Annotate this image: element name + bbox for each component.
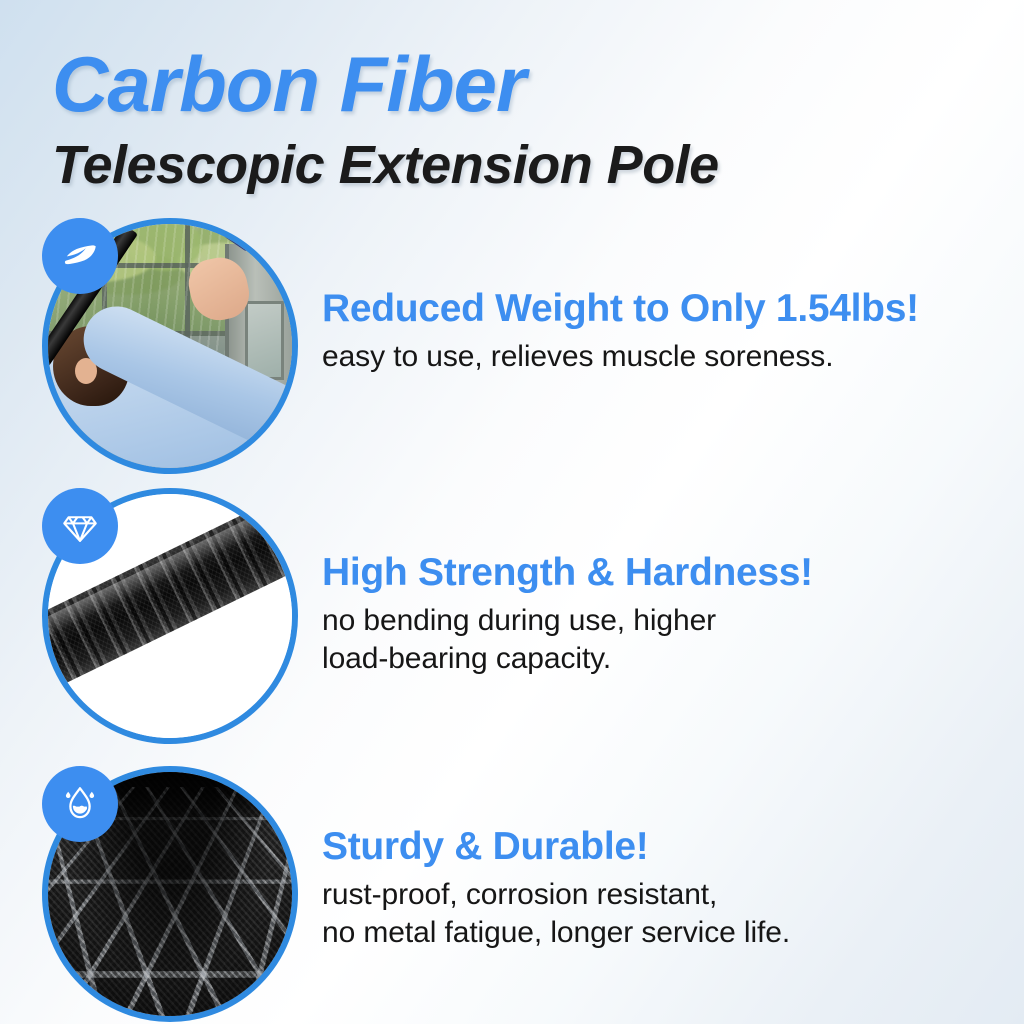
product-infographic-poster: Carbon Fiber Telescopic Extension Pole bbox=[0, 0, 1024, 1024]
feature-media-3 bbox=[42, 766, 298, 1022]
feature-heading-1-line1: Reduced Weight to bbox=[322, 287, 669, 330]
feature-copy-1: Reduced Weight to Only 1.54lbs! easy to … bbox=[322, 218, 1012, 376]
feature-heading-2-line1: High Strength & Hardness! bbox=[322, 551, 813, 594]
poster-header: Carbon Fiber Telescopic Extension Pole bbox=[0, 44, 1024, 194]
feature-body-1: easy to use, relieves muscle soreness. bbox=[322, 338, 1012, 376]
diamond-icon bbox=[59, 505, 101, 547]
feature-badge-3 bbox=[42, 766, 118, 842]
feature-heading-1: Reduced Weight to Only 1.54lbs! bbox=[322, 286, 1012, 331]
feather-icon bbox=[59, 235, 101, 277]
feature-body-2-line2: load-bearing capacity. bbox=[322, 640, 1012, 678]
feature-body-2-line1: no bending during use, higher bbox=[322, 602, 1012, 640]
feature-copy-3: Sturdy & Durable! rust-proof, corrosion … bbox=[322, 766, 1012, 952]
feature-body-2: no bending during use, higher load-beari… bbox=[322, 602, 1012, 678]
feature-body-3-line2: no metal fatigue, longer service life. bbox=[322, 914, 1012, 952]
feature-badge-2 bbox=[42, 488, 118, 564]
feature-body-3-line1: rust-proof, corrosion resistant, bbox=[322, 876, 1012, 914]
feature-body-1-line1: easy to use, relieves muscle soreness. bbox=[322, 338, 1012, 376]
feature-heading-2: High Strength & Hardness! bbox=[322, 550, 1012, 595]
feature-media-2 bbox=[42, 488, 298, 744]
feature-media-1 bbox=[42, 218, 298, 474]
feature-heading-1-line2: Only 1.54lbs! bbox=[680, 287, 919, 330]
feature-body-3: rust-proof, corrosion resistant, no meta… bbox=[322, 876, 1012, 952]
page-subtitle: Telescopic Extension Pole bbox=[0, 124, 1024, 194]
page-title: Carbon Fiber bbox=[0, 44, 1024, 124]
feature-heading-3: Sturdy & Durable! bbox=[322, 824, 1012, 869]
water-drop-icon bbox=[59, 783, 101, 825]
feature-heading-3-line1: Sturdy & Durable! bbox=[322, 825, 648, 868]
feature-badge-1 bbox=[42, 218, 118, 294]
feature-copy-2: High Strength & Hardness! no bending dur… bbox=[322, 488, 1012, 678]
